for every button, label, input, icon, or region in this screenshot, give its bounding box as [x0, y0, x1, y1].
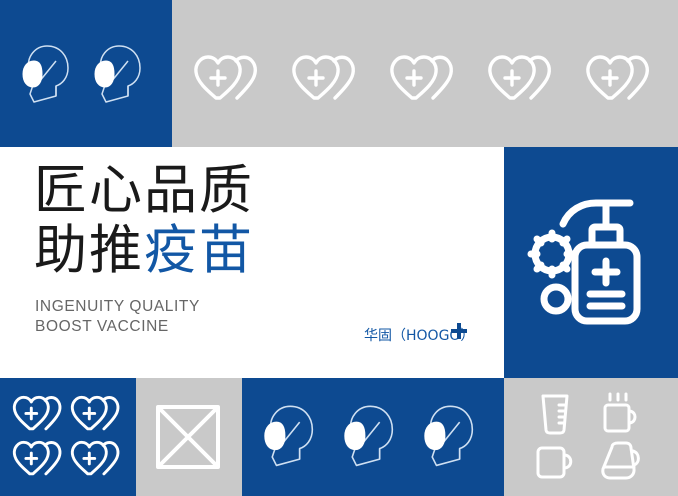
broken-image-placeholder-icon: [154, 404, 222, 470]
bottom-gray-right-panel: [504, 378, 678, 496]
subtitle-line-1: INGENUITY QUALITY: [35, 297, 200, 317]
top-gray-panel: [172, 0, 678, 147]
headline-line-2-black: 助推: [34, 220, 144, 281]
bottom-blue-left-panel: [0, 378, 136, 496]
double-heart-plus-icon: [388, 54, 460, 106]
double-heart-plus-icon: [290, 54, 362, 106]
measuring-beaker-icon: [535, 392, 575, 436]
headline-line-1: 匠心品质: [34, 161, 254, 221]
headline-line-2-accent: 疫苗: [144, 220, 254, 281]
top-blue-panel: [0, 0, 172, 147]
top-mask-row: [16, 40, 144, 112]
double-heart-plus-icon: [69, 440, 125, 480]
steaming-mug-icon: [599, 392, 643, 436]
bottom-heart-grid: [10, 392, 126, 482]
double-heart-plus-icon: [192, 54, 264, 106]
double-heart-plus-icon: [11, 440, 67, 480]
masked-head-icon: [256, 400, 318, 476]
bottom-gray-mid-panel: [136, 378, 242, 496]
double-heart-plus-icon: [11, 395, 67, 435]
middle-blue-panel: [504, 147, 678, 378]
headline-block: 匠心品质 助推疫苗: [34, 161, 254, 281]
bottom-mask-row: [256, 400, 478, 476]
top-heart-row: [192, 54, 656, 106]
middle-white-panel: 匠心品质 助推疫苗 INGENUITY QUALITY BOOST VACCIN…: [0, 147, 504, 378]
bottom-blue-mid-panel: [242, 378, 504, 496]
kettle-icon: [598, 440, 644, 484]
subtitle-line-2: BOOST VACCINE: [35, 317, 200, 337]
vessel-icon-grid: [522, 390, 654, 486]
plain-mug-icon: [533, 440, 577, 484]
hand-sanitizer-bottle-icon: [522, 191, 662, 336]
headline-line-2: 助推疫苗: [34, 221, 254, 281]
subtitle-block: INGENUITY QUALITY BOOST VACCINE: [35, 297, 200, 337]
masked-head-icon: [88, 40, 144, 112]
double-heart-plus-icon: [69, 395, 125, 435]
plus-icon: [450, 322, 468, 340]
masked-head-icon: [416, 400, 478, 476]
double-heart-plus-icon: [486, 54, 558, 106]
poster-canvas: 匠心品质 助推疫苗 INGENUITY QUALITY BOOST VACCIN…: [0, 0, 678, 496]
masked-head-icon: [16, 40, 72, 112]
masked-head-icon: [336, 400, 398, 476]
double-heart-plus-icon: [584, 54, 656, 106]
